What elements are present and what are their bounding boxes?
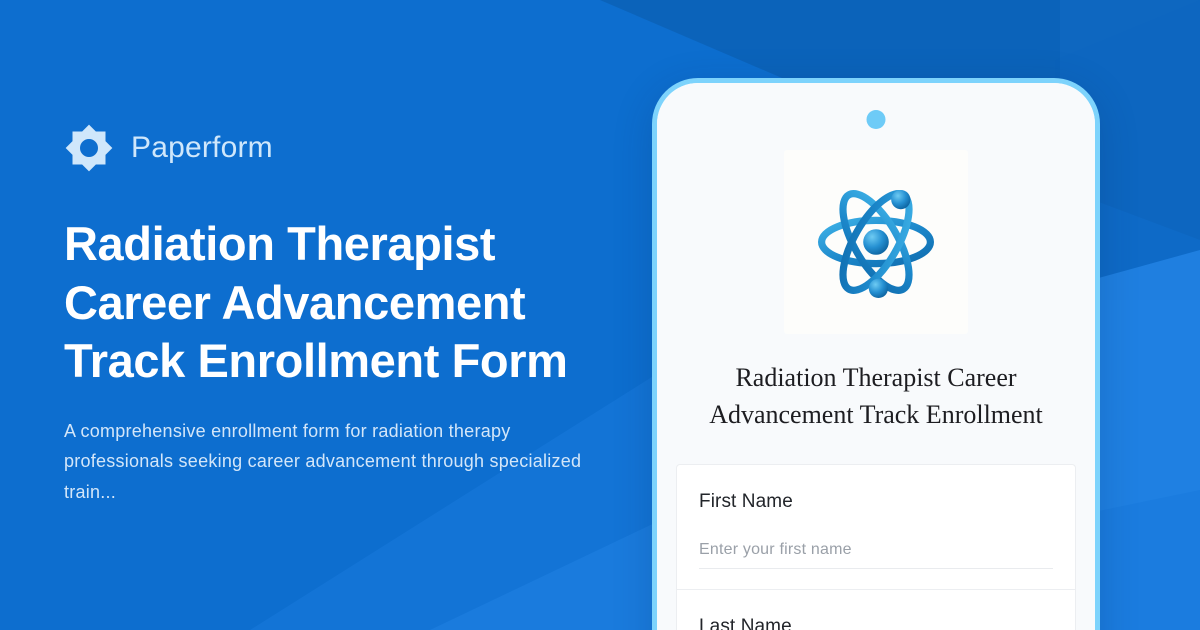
page-description: A comprehensive enrollment form for radi…: [64, 416, 584, 507]
form-title: Radiation Therapist Career Advancement T…: [657, 360, 1095, 434]
form-fields: First Name Enter your first name Last Na…: [676, 464, 1076, 630]
paperform-starburst-icon: [64, 123, 114, 173]
page-title: Radiation Therapist Career Advancement T…: [64, 215, 624, 390]
form-field-first-name[interactable]: First Name Enter your first name: [676, 464, 1076, 589]
phone-mockup: Radiation Therapist Career Advancement T…: [652, 78, 1100, 630]
og-image-canvas: Paperform Radiation Therapist Career Adv…: [0, 0, 1200, 630]
first-name-input[interactable]: Enter your first name: [699, 540, 1053, 569]
field-label: First Name: [699, 491, 1053, 514]
field-placeholder: Enter your first name: [699, 540, 1053, 559]
atom-icon: [796, 162, 956, 322]
form-hero-image: [784, 150, 968, 334]
phone-screen: Radiation Therapist Career Advancement T…: [657, 83, 1095, 630]
brand-name: Paperform: [131, 133, 273, 163]
brand-lockup: Paperform: [64, 123, 624, 173]
hero-content: Paperform Radiation Therapist Career Adv…: [64, 0, 624, 630]
camera-dot-icon: [867, 110, 886, 129]
field-label: Last Name: [699, 616, 1053, 630]
form-field-last-name[interactable]: Last Name: [676, 589, 1076, 630]
